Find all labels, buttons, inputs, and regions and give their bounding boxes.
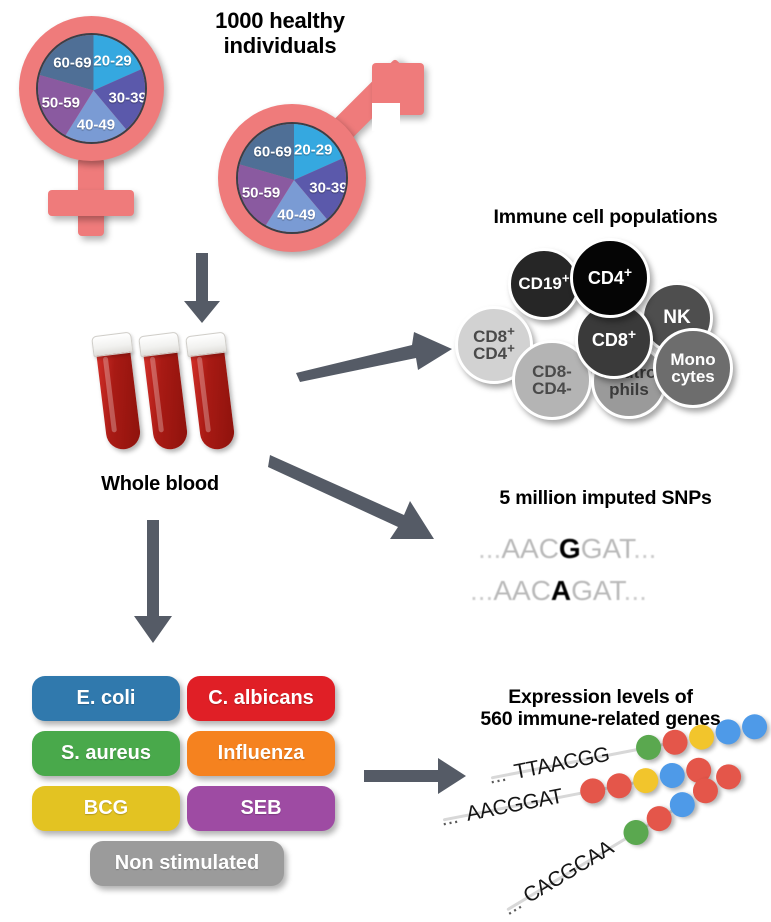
immune-cell-label: CD4+ — [588, 269, 632, 287]
snp-left-bases: AAC — [493, 575, 551, 606]
snp-variant-base: A — [551, 575, 571, 606]
gene-expression-title-line-1: Expression levels of — [430, 686, 771, 708]
stimulation-label: S. aureus — [61, 742, 151, 765]
stimulation-label: BCG — [84, 797, 128, 820]
gene-expression-strands-group: ...TTAACGG...AACGGAT...CACGCAA — [455, 735, 771, 915]
snp-sequence-row: ...AACAGAT... — [470, 575, 647, 607]
snp-trailing-dots: ... — [633, 533, 656, 564]
strand-sequence-text: AACGGAT — [464, 785, 564, 827]
snp-variant-base: G — [559, 533, 581, 564]
snp-right-bases: GAT — [581, 533, 633, 564]
arrow-blood-to-snps — [268, 453, 438, 548]
male-age-distribution-pie: 20-2930-3940-4950-5960-69 — [236, 122, 348, 234]
figure-canvas: 1000 healthy individuals 20-2930-3940-49… — [0, 0, 771, 922]
stimulation-conditions-group: E. coliC. albicansS. aureusInfluenzaBCGS… — [32, 676, 352, 896]
stimulation-c-albicans[interactable]: C. albicans — [187, 676, 335, 721]
age-slice-label-40-49: 40-49 — [77, 117, 115, 134]
stimulation-label: E. coli — [77, 687, 136, 710]
snp-right-bases: GAT — [571, 575, 623, 606]
arrow-blood-to-stimulations — [134, 520, 174, 645]
female-gender-symbol: 20-2930-3940-4950-5960-69 — [6, 10, 196, 245]
stimulation-non-stimulated[interactable]: Non stimulated — [90, 841, 284, 886]
stimulation-label: SEB — [240, 797, 281, 820]
immune-cell-monocytes[interactable]: Monocytes — [653, 328, 733, 408]
arrow-stimulations-to-genes — [364, 758, 468, 794]
immune-cell-label: CD19+ — [518, 275, 569, 292]
snp-leading-dots: ... — [478, 533, 501, 564]
immune-cell-label: CD8+CD4+ — [473, 328, 515, 363]
gene-bead — [713, 717, 742, 746]
strand-sequence-text: CACGCAA — [519, 836, 617, 908]
cohort-title-line-2: individuals — [170, 33, 390, 58]
immune-cell-cd4[interactable]: CD4+ — [570, 238, 650, 318]
snp-sequences-group: ...AACGGAT......AACAGAT... — [470, 533, 750, 618]
male-symbol-arrow-notch — [372, 103, 400, 131]
immune-cell-label: NK — [663, 308, 690, 327]
whole-blood-tubes — [92, 330, 262, 470]
cohort-title-line-1: 1000 healthy — [170, 8, 390, 33]
strand-leading-dots: ... — [439, 805, 461, 832]
arrow-blood-to-immune-cells — [294, 330, 454, 380]
gene-bead — [605, 771, 634, 800]
gene-bead — [660, 728, 689, 757]
stimulation-label: Influenza — [218, 742, 305, 765]
age-slice-label-60-69: 60-69 — [53, 54, 91, 71]
gene-bead — [740, 712, 769, 741]
strand-leading-dots: ... — [499, 891, 526, 921]
female-age-distribution-pie: 20-2930-3940-4950-5960-69 — [36, 33, 147, 144]
age-slice-label-40-49: 40-49 — [277, 207, 315, 224]
immune-cell-cd19[interactable]: CD19+ — [508, 248, 580, 320]
female-symbol-cross-bar — [48, 190, 134, 216]
age-slice-label-30-39: 30-39 — [108, 90, 146, 107]
immune-cell-population-cluster: CD8+CD4+CD19+CD4+CD8-CD4-CD8+NKNeutrophi… — [455, 238, 755, 418]
age-slice-label-20-29: 20-29 — [93, 53, 131, 70]
snp-leading-dots: ... — [470, 575, 493, 606]
immune-cell-label: CD8-CD4- — [532, 363, 572, 398]
gene-bead — [634, 733, 663, 762]
snp-trailing-dots: ... — [624, 575, 647, 606]
whole-blood-label: Whole blood — [60, 473, 260, 496]
stimulation-label: C. albicans — [208, 687, 314, 710]
gene-bead — [631, 766, 660, 795]
age-slice-label-30-39: 30-39 — [309, 179, 347, 196]
age-slice-label-50-59: 50-59 — [42, 95, 80, 112]
blood-tube — [141, 332, 189, 453]
age-slice-label-50-59: 50-59 — [242, 184, 280, 201]
gene-bead — [578, 776, 607, 805]
stimulation-e-coli[interactable]: E. coli — [32, 676, 180, 721]
immune-cell-label: CD8+ — [592, 331, 636, 349]
strand-leading-dots: ... — [487, 763, 509, 790]
snps-title: 5 million imputed SNPs — [440, 487, 771, 509]
arrow-cohort-to-blood — [182, 253, 222, 325]
gene-bead — [687, 722, 716, 751]
age-slice-label-20-29: 20-29 — [294, 142, 332, 159]
blood-tube — [94, 332, 142, 453]
immune-cell-label: Monocytes — [670, 351, 715, 386]
blood-tube — [188, 332, 236, 453]
age-slice-label-60-69: 60-69 — [254, 143, 292, 160]
page-title-cohort: 1000 healthy individuals — [170, 8, 390, 59]
immune-cells-title: Immune cell populations — [440, 206, 771, 228]
snp-left-bases: AAC — [501, 533, 559, 564]
stimulation-label: Non stimulated — [115, 852, 259, 875]
stimulation-influenza[interactable]: Influenza — [187, 731, 335, 776]
stimulation-s-aureus[interactable]: S. aureus — [32, 731, 180, 776]
stimulation-seb[interactable]: SEB — [187, 786, 335, 831]
snp-sequence-row: ...AACGGAT... — [478, 533, 656, 565]
stimulation-bcg[interactable]: BCG — [32, 786, 180, 831]
male-gender-symbol: 20-2930-3940-4950-5960-69 — [206, 76, 421, 261]
